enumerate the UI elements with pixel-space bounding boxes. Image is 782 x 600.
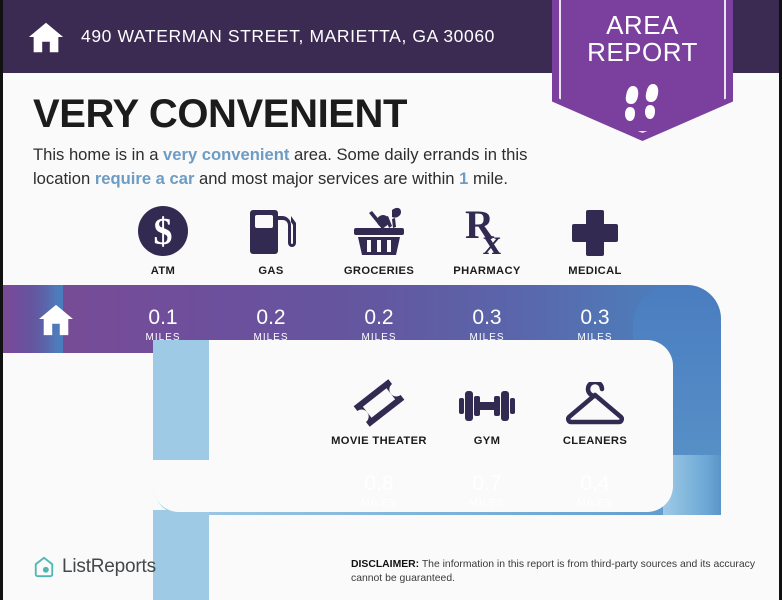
amenity-label: ATM [151, 265, 175, 277]
distance-value: 0.7 [433, 473, 541, 494]
desc-highlight-1: very convenient [163, 145, 289, 164]
gas-pump-icon [246, 206, 296, 258]
distance-cell: 0.2 MILES [325, 307, 433, 343]
svg-text:x: x [483, 222, 501, 258]
svg-text:$: $ [154, 211, 173, 253]
property-address: 490 WATERMAN STREET, MARIETTA, GA 30060 [81, 26, 495, 47]
distance-value: 0.3 [433, 307, 541, 328]
distance-unit: MILES [325, 498, 433, 509]
distance-cell: 0.8 MILES [325, 473, 433, 509]
distance-unit: MILES [109, 332, 217, 343]
hanger-icon [564, 382, 626, 428]
distance-cell: 0.7 MILES [433, 473, 541, 509]
distance-value: 0.8 [325, 473, 433, 494]
disclaimer: DISCLAIMER: The information in this repo… [351, 558, 765, 587]
distance-cell: 0.1 MILES [109, 307, 217, 343]
listreports-logo: ListReports [33, 556, 156, 578]
distance-cell: 0.2 MILES [217, 307, 325, 343]
desc-part-3: and most major services are within [194, 169, 459, 188]
amenity-label: GAS [258, 265, 283, 277]
distance-unit: MILES [433, 332, 541, 343]
distance-cell: 0.3 MILES [433, 307, 541, 343]
amenity-icon-row-2: MOVIE THEATER GYM [325, 378, 649, 447]
footprints-icon [620, 84, 666, 124]
amenity-medical: MEDICAL [541, 206, 649, 277]
description-text: This home is in a very convenient area. … [33, 143, 568, 190]
distance-unit: MILES [325, 332, 433, 343]
desc-highlight-2: require a car [95, 169, 195, 188]
distance-unit: MILES [217, 332, 325, 343]
distance-value: 0.4 [541, 473, 649, 494]
amenity-label: GYM [474, 435, 501, 447]
desc-highlight-3: 1 [459, 169, 468, 188]
atm-dollar-icon: $ [136, 204, 190, 258]
badge-line-2: REPORT [552, 39, 733, 66]
distance-unit: MILES [541, 332, 649, 343]
distance-value: 0.1 [109, 307, 217, 328]
distance-unit: MILES [541, 498, 649, 509]
page-title: VERY CONVENIENT [33, 92, 407, 137]
path-tail-bottom-left [153, 510, 209, 600]
listreports-logo-icon [33, 556, 55, 578]
area-report-badge: AREA REPORT [552, 0, 733, 141]
distance-cell: 0.3 MILES [541, 307, 649, 343]
amenity-label: PHARMACY [453, 265, 520, 277]
distance-value: 0.3 [541, 307, 649, 328]
amenity-movie-theater: MOVIE THEATER [325, 378, 433, 447]
distance-row-1: 0.1 MILES 0.2 MILES 0.2 MILES 0.3 MILES … [109, 307, 649, 343]
disclaimer-label: DISCLAIMER: [351, 559, 419, 570]
amenity-label: MOVIE THEATER [331, 435, 427, 447]
badge-line-1: AREA [552, 12, 733, 39]
desc-part-4: mile. [468, 169, 508, 188]
amenity-pharmacy: R x PHARMACY [433, 206, 541, 277]
movie-ticket-icon [353, 378, 405, 428]
pharmacy-rx-icon: R x [463, 204, 511, 258]
distance-row-2: 0.8 MILES 0.7 MILES 0.4 MILES [325, 473, 649, 509]
amenity-gym: GYM [433, 378, 541, 447]
amenity-cleaners: CLEANERS [541, 378, 649, 447]
amenity-icon-row-1: $ ATM GAS [109, 206, 649, 277]
home-marker-icon [37, 303, 75, 337]
amenity-groceries: GROCERIES [325, 206, 433, 277]
desc-part-1: This home is in a [33, 145, 163, 164]
distance-value: 0.2 [217, 307, 325, 328]
amenity-gas: GAS [217, 206, 325, 277]
home-icon [27, 18, 65, 56]
grocery-basket-icon [350, 204, 408, 258]
distance-value: 0.2 [325, 307, 433, 328]
amenity-atm: $ ATM [109, 206, 217, 277]
distance-cell: 0.4 MILES [541, 473, 649, 509]
distance-unit: MILES [433, 498, 541, 509]
medical-cross-icon [570, 208, 620, 258]
dumbbell-icon [459, 384, 515, 428]
listreports-wordmark: ListReports [62, 556, 156, 578]
amenity-label: CLEANERS [563, 435, 627, 447]
area-report-infographic: 490 WATERMAN STREET, MARIETTA, GA 30060 … [0, 0, 782, 600]
amenity-label: MEDICAL [568, 265, 621, 277]
badge-text: AREA REPORT [552, 12, 733, 65]
amenity-label: GROCERIES [344, 265, 414, 277]
